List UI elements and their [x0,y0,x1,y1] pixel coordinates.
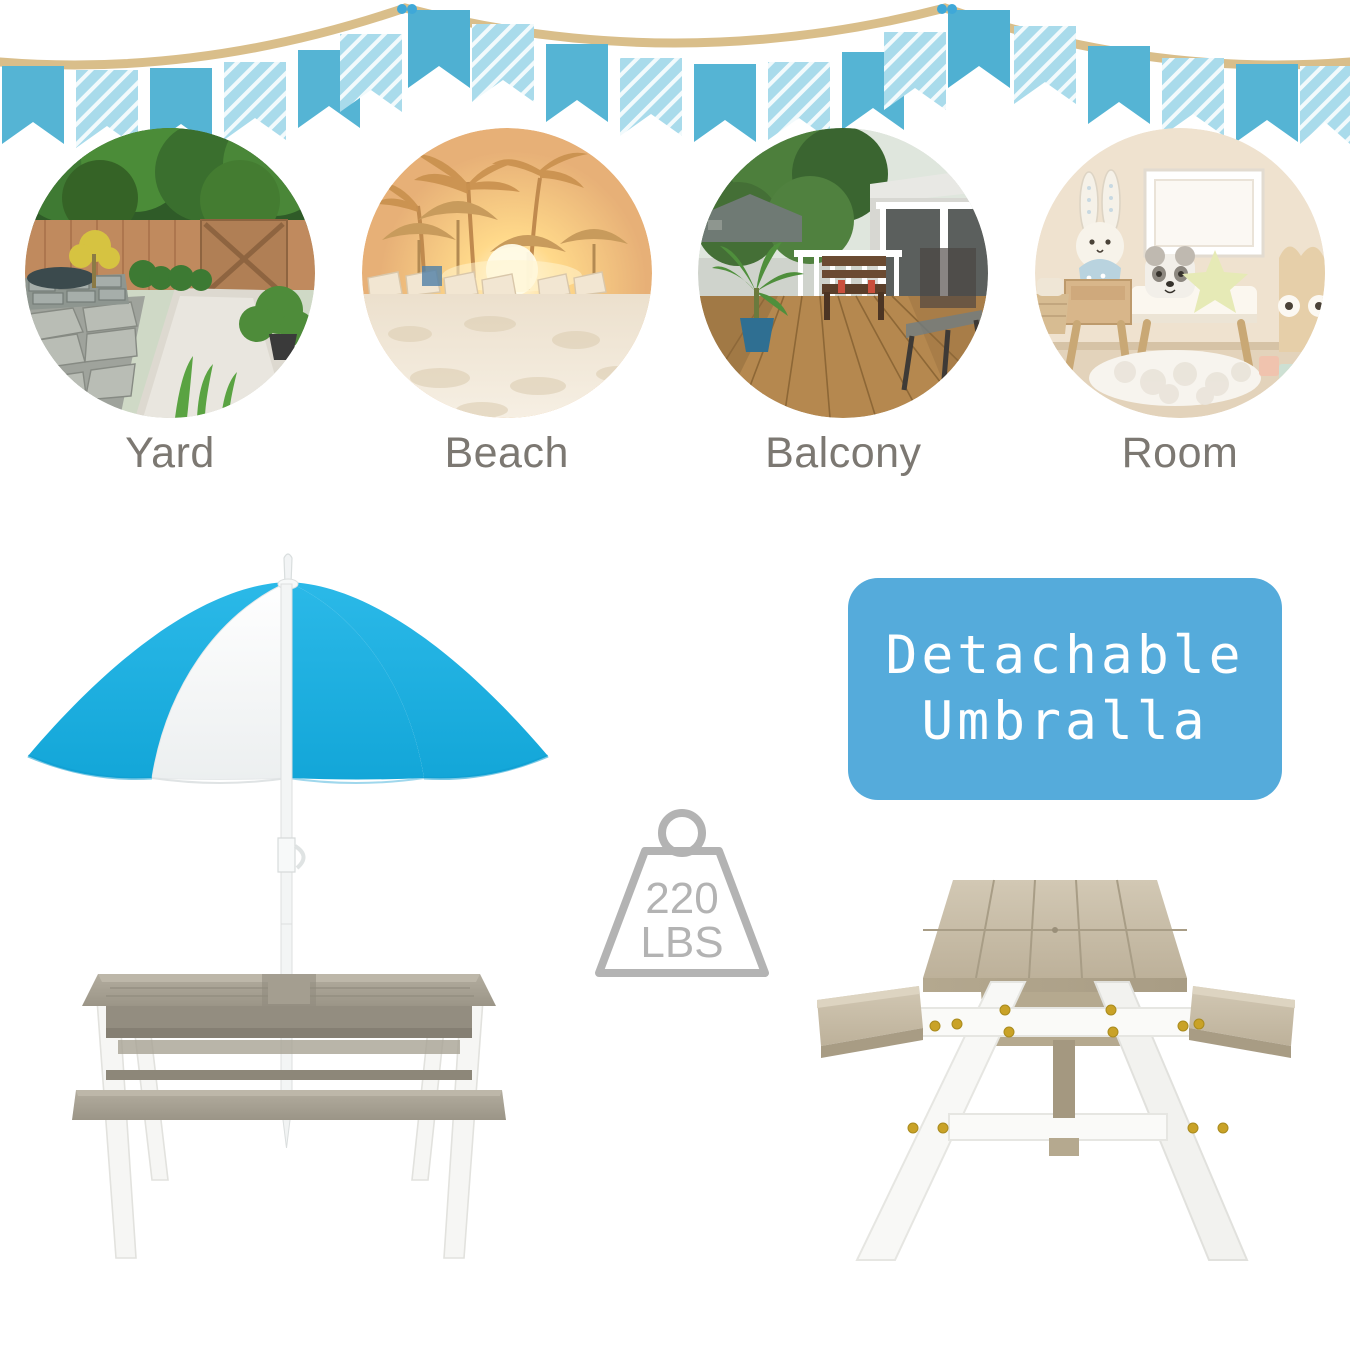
scene-label-balcony: Balcony [765,432,921,475]
flag [1088,46,1150,124]
flag [546,44,608,122]
bunting-banner [0,0,1350,100]
picnic-table-front [72,974,506,1258]
bench-right [1189,986,1295,1058]
bunting-svg [0,0,1350,100]
badge-line-1: Detachable [885,623,1244,689]
scene-item-yard[interactable]: Yard [25,128,315,518]
scene-label-yard: Yard [125,432,215,475]
product-table-with-umbrella [10,540,550,1270]
flag [408,10,470,88]
scene-label-beach: Beach [444,432,568,475]
flag [340,34,402,112]
room-scene-image [1035,128,1325,418]
product-table-angled [795,860,1315,1280]
yard-scene-image [25,128,315,418]
weight-value: 220 [645,874,718,923]
scene-gallery: Yard [0,128,1350,518]
badge-line-2: Umbralla [921,689,1208,755]
flag [1014,26,1076,104]
flag [472,24,534,102]
flag [620,58,682,136]
detachable-umbrella-badge: Detachable Umbralla [848,578,1282,800]
scene-item-balcony[interactable]: Balcony [698,128,988,518]
weight-unit: LBS [640,918,723,967]
beach-scene-image [362,128,652,418]
balcony-scene-image [698,128,988,418]
centre-brace [1053,1040,1075,1118]
scene-label-room: Room [1122,432,1239,475]
flag [948,10,1010,88]
table-top-slats [923,880,1187,992]
flag [884,32,946,110]
bench-left [817,986,923,1058]
flag [1162,58,1224,136]
bunting-knot-icon [397,4,957,14]
scene-item-beach[interactable]: Beach [362,128,652,518]
foot-block [1049,1138,1079,1156]
weight-capacity-badge: 220 LBS [575,805,790,990]
scene-item-room[interactable]: Room [1035,128,1325,518]
